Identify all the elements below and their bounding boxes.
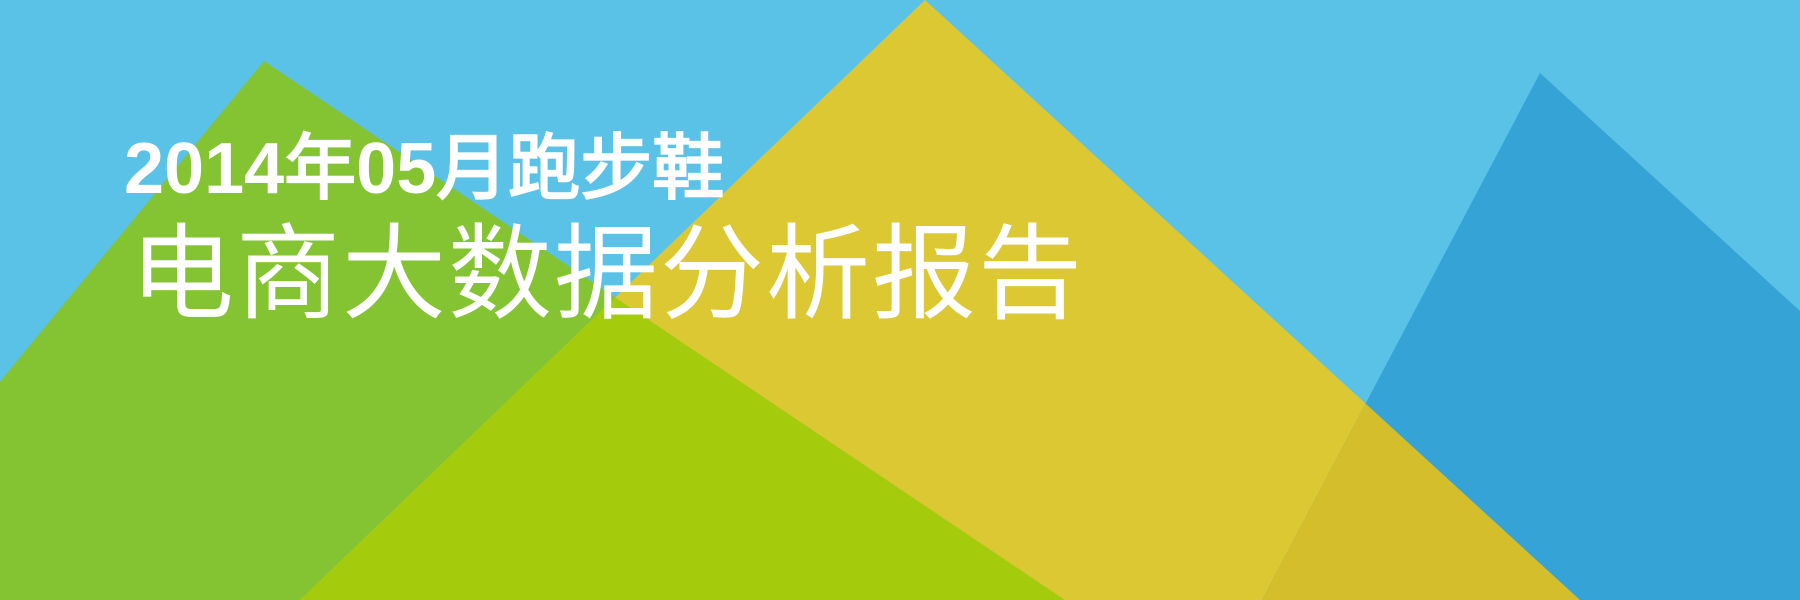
banner-title-line-2: 电商大数据分析报告 (130, 216, 1084, 334)
report-cover-banner: 2014年05月跑步鞋 电商大数据分析报告 (0, 0, 1800, 600)
banner-title-block: 2014年05月跑步鞋 电商大数据分析报告 (124, 126, 1084, 334)
banner-title-line-1: 2014年05月跑步鞋 (124, 126, 1084, 212)
